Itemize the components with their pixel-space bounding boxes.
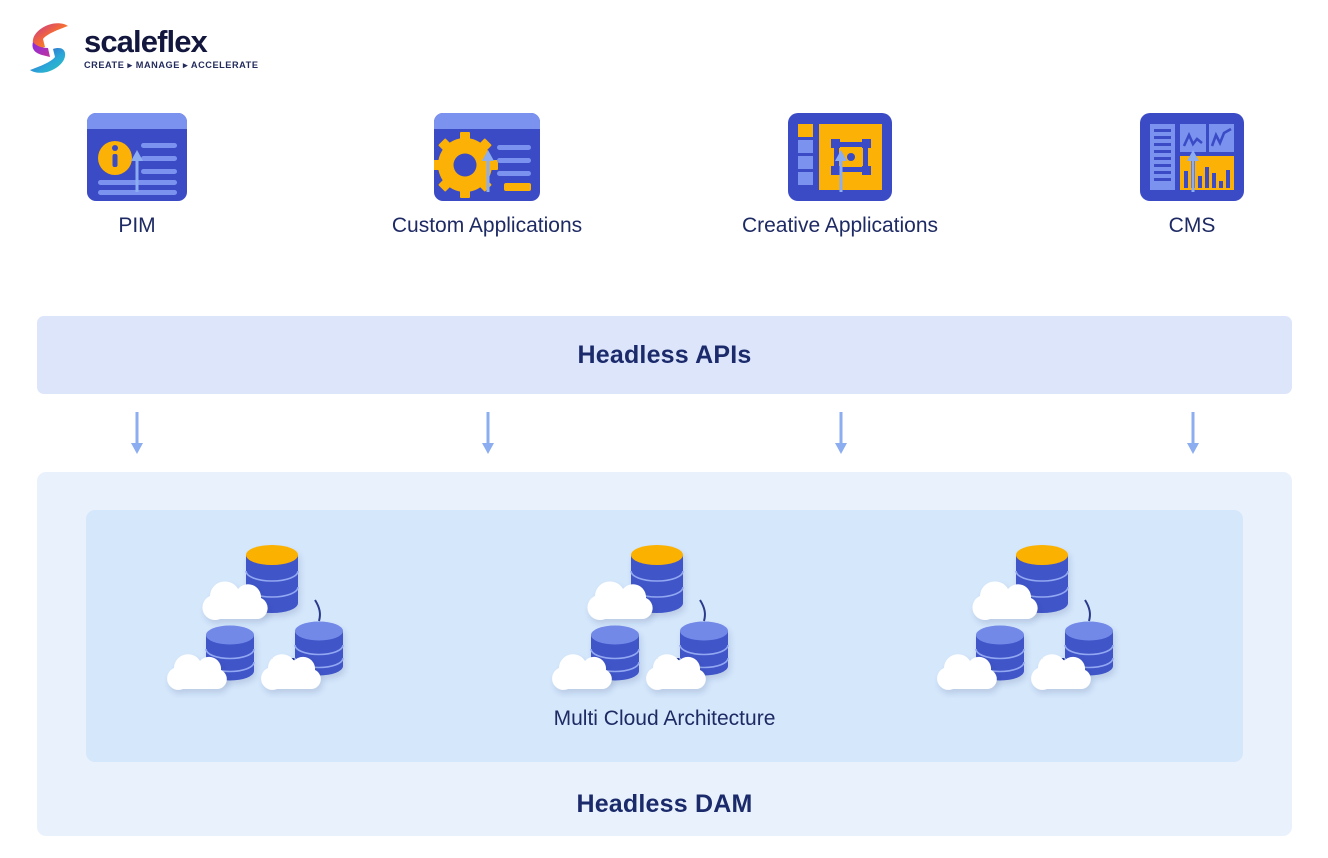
brand-logo: scaleflex CREATE ▸ MANAGE ▸ ACCELERATE: [28, 22, 259, 74]
multi-cloud-architecture-label: Multi Cloud Architecture: [86, 707, 1243, 731]
headless-apis-title: Headless APIs: [578, 341, 752, 370]
arrow-down-icon-creative-applications: [834, 412, 848, 454]
arrow-up-icon-creative-applications: [834, 150, 848, 192]
app-label-custom-applications: Custom Applications: [357, 213, 617, 239]
headless-apis-band: Headless APIs: [37, 316, 1292, 394]
multi-cloud-architecture-panel: Multi Cloud Architecture: [86, 510, 1243, 762]
multi-cloud-database-cluster-icon: [549, 528, 779, 698]
app-label-creative-applications: Creative Applications: [710, 213, 970, 239]
scaleflex-s-logo-icon: [28, 22, 70, 74]
arrow-up-icon-custom-applications: [481, 150, 495, 192]
diagram-canvas: scaleflex CREATE ▸ MANAGE ▸ ACCELERATE: [0, 0, 1328, 858]
brand-tagline: CREATE ▸ MANAGE ▸ ACCELERATE: [84, 60, 259, 71]
app-label-cms: CMS: [1062, 213, 1322, 239]
arrow-down-icon-pim: [130, 412, 144, 454]
arrow-down-icon-cms: [1186, 412, 1200, 454]
arrow-up-icon-pim: [130, 150, 144, 192]
brand-name: scaleflex: [84, 26, 259, 57]
arrow-up-icon-cms: [1186, 150, 1200, 192]
headless-dam-panel: Multi Cloud Architecture Headless DAM: [37, 472, 1292, 836]
multi-cloud-database-cluster-icon: [164, 528, 394, 698]
applications-row: PIM: [0, 113, 1328, 313]
headless-dam-title: Headless DAM: [37, 790, 1292, 819]
multi-cloud-database-cluster-icon: [934, 528, 1164, 698]
app-label-pim: PIM: [7, 213, 267, 239]
arrow-down-icon-custom-applications: [481, 412, 495, 454]
